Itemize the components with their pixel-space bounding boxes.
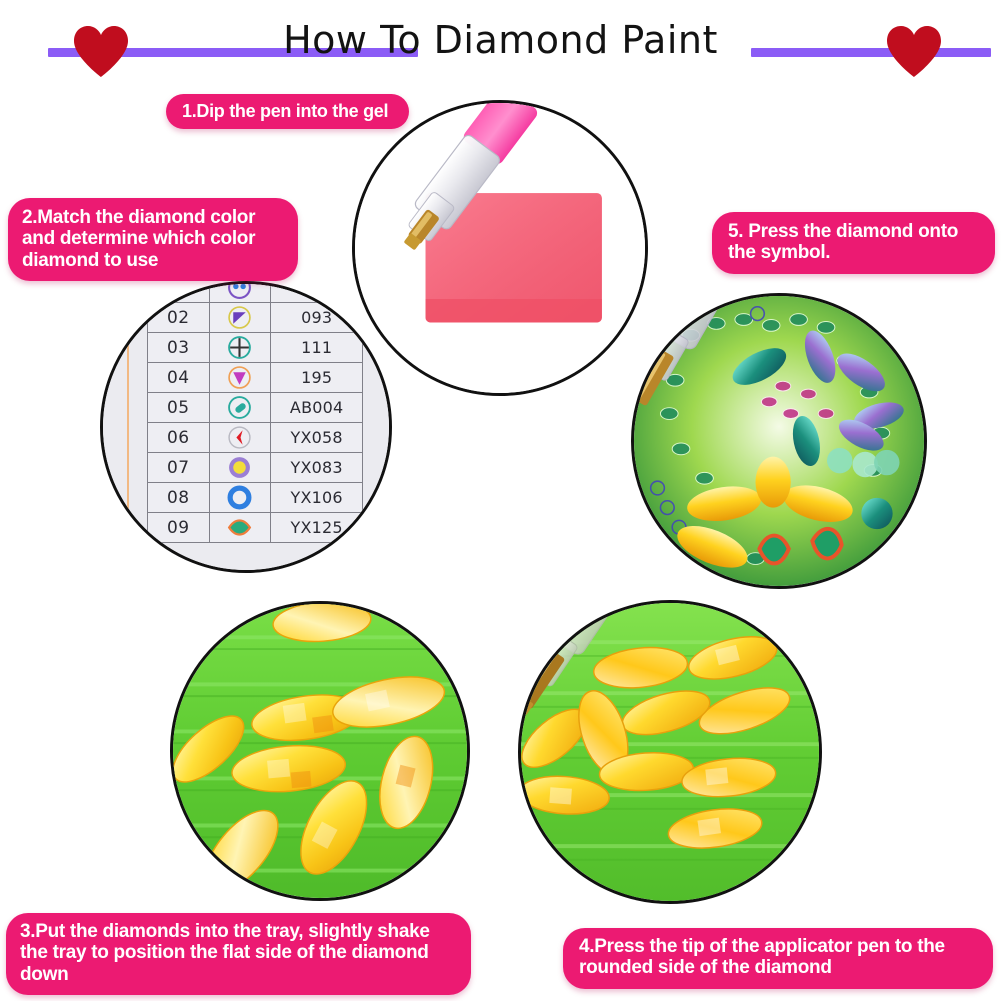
ring-blue-icon: [209, 483, 271, 513]
chart-code: YX106: [271, 483, 363, 513]
chart-no: 02: [148, 303, 210, 333]
chart-code: 093: [271, 303, 363, 333]
chart-no: 07: [148, 453, 210, 483]
step-2-label: 2.Match the diamond color and determine …: [8, 198, 298, 281]
step-1-image: [352, 100, 648, 396]
chart-no: 08: [148, 483, 210, 513]
chart-code: 111: [271, 333, 363, 363]
table-row: 02 093: [148, 303, 363, 333]
step-2-image: 01 028 02 093 03: [100, 281, 392, 573]
table-row: 08 YX106: [148, 483, 363, 513]
triangle-purple-icon: [209, 303, 271, 333]
chart-no: 05: [148, 393, 210, 423]
table-row: 03 111: [148, 333, 363, 363]
chart-no: 06: [148, 423, 210, 453]
table-row: 09 YX125: [148, 513, 363, 543]
page-title: How To Diamond Paint: [0, 18, 1001, 62]
step-1-label: 1.Dip the pen into the gel: [166, 94, 409, 129]
chart-code: YX125: [271, 513, 363, 543]
dot-yellow-purple-icon: [209, 453, 271, 483]
step-4-label: 4.Press the tip of the applicator pen to…: [563, 928, 993, 989]
triangle-magenta-icon: [209, 363, 271, 393]
plus-teal-icon: [209, 333, 271, 363]
leaf-green-icon: [209, 513, 271, 543]
paper-edge-left: [127, 284, 129, 570]
table-row: 04 195: [148, 363, 363, 393]
chart-no: 01: [148, 281, 210, 303]
arrow-left-red-icon: [209, 423, 271, 453]
double-dot-purple-icon: [209, 281, 271, 303]
chart-code: AB004: [271, 393, 363, 423]
step-4-image: [518, 600, 822, 904]
chart-no: 09: [148, 513, 210, 543]
step-5-label: 5. Press the diamond onto the symbol.: [712, 212, 995, 274]
color-chart: 01 028 02 093 03: [103, 284, 389, 570]
chart-no: 03: [148, 333, 210, 363]
color-chart-table: 01 028 02 093 03: [147, 281, 363, 543]
header-banner: How To Diamond Paint: [0, 0, 1001, 84]
chart-code: YX083: [271, 453, 363, 483]
step-3-label: 3.Put the diamonds into the tray, slight…: [6, 913, 471, 995]
chart-no: 04: [148, 363, 210, 393]
table-row: 07 YX083: [148, 453, 363, 483]
chart-code: 028: [271, 281, 363, 303]
step-3-image: [170, 601, 470, 901]
slash-oval-teal-icon: [209, 393, 271, 423]
step-5-image: [631, 293, 927, 589]
table-row: 01 028: [148, 281, 363, 303]
chart-code: YX058: [271, 423, 363, 453]
table-row: 05 AB004: [148, 393, 363, 423]
chart-code: 195: [271, 363, 363, 393]
table-row: 06 YX058: [148, 423, 363, 453]
